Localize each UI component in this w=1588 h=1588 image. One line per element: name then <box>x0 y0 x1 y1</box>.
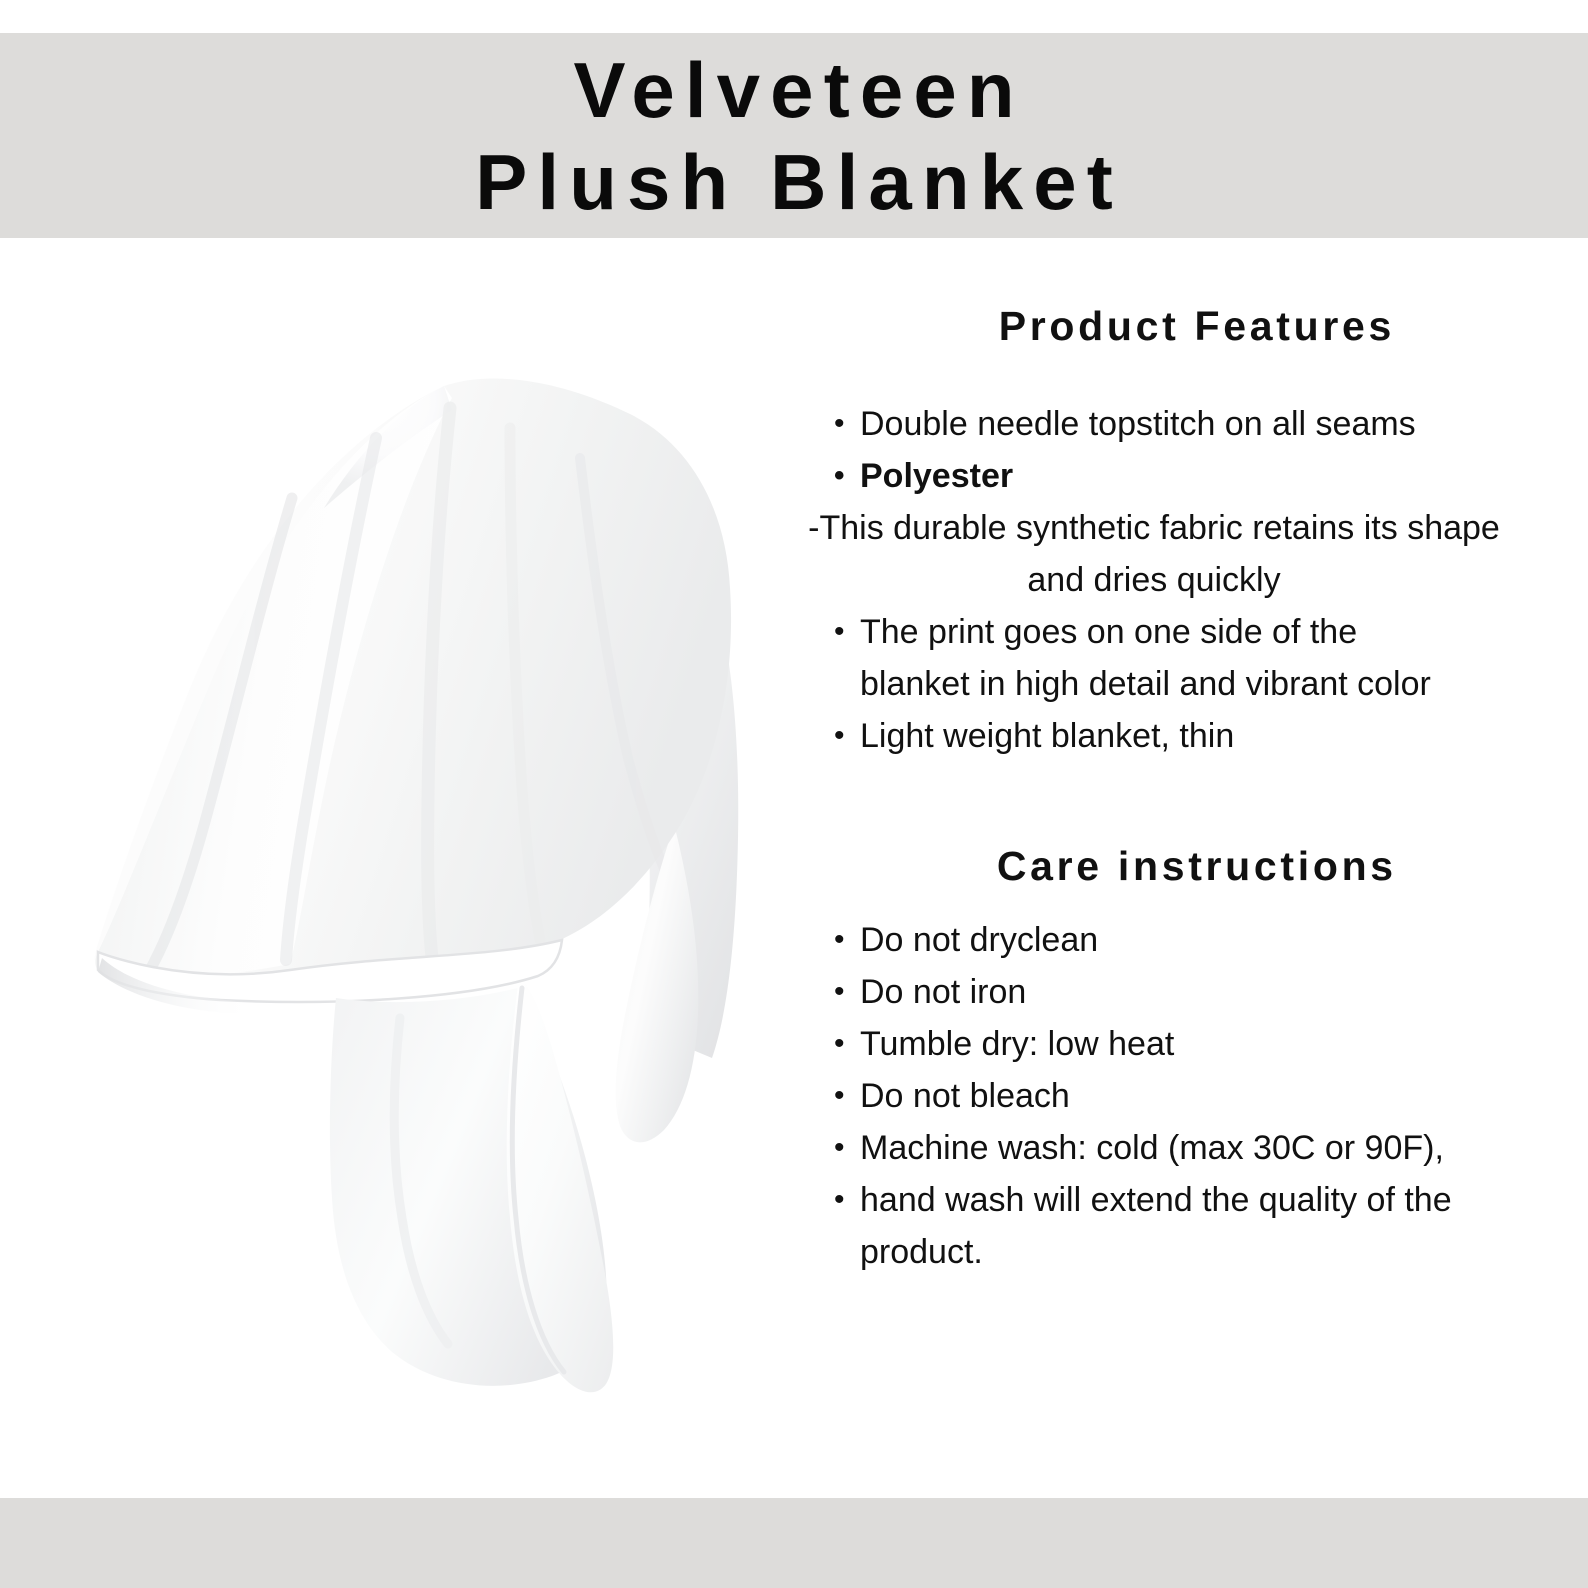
care-item: Do not iron <box>830 966 1510 1018</box>
care-instructions-list: Do not dryclean Do not iron Tumble dry: … <box>830 914 1510 1278</box>
care-item: hand wash will extend the quality of the… <box>830 1174 1510 1278</box>
care-item: Tumble dry: low heat <box>830 1018 1510 1070</box>
care-item: Machine wash: cold (max 30C or 90F), <box>830 1122 1510 1174</box>
product-features-list: Double needle topstitch on all seams Pol… <box>830 398 1450 502</box>
care-item: Do not bleach <box>830 1070 1510 1122</box>
feature-item-polyester: Polyester <box>830 450 1450 502</box>
footer-band <box>0 1498 1588 1588</box>
blanket-illustration <box>40 258 820 1418</box>
feature-item: The print goes on one side of the blanke… <box>830 606 1450 710</box>
care-item: Do not dryclean <box>830 914 1510 966</box>
feature-item: Double needle topstitch on all seams <box>830 398 1450 450</box>
content-area: Product Features Double needle topstitch… <box>0 238 1588 1498</box>
product-title-line-2: Plush Blanket <box>465 136 1123 228</box>
product-title-line-1: Velveteen <box>563 44 1024 136</box>
product-info-column: Product Features Double needle topstitch… <box>830 278 1560 1278</box>
polyester-note: -This durable synthetic fabric retains i… <box>804 502 1504 606</box>
product-photo <box>40 258 820 1418</box>
product-features-list-continued: The print goes on one side of the blanke… <box>830 606 1450 762</box>
title-band: Velveteen Plush Blanket <box>0 33 1588 238</box>
product-features-heading: Product Features <box>830 300 1560 352</box>
feature-item: Light weight blanket, thin <box>830 710 1450 762</box>
care-instructions-heading: Care instructions <box>830 840 1560 892</box>
